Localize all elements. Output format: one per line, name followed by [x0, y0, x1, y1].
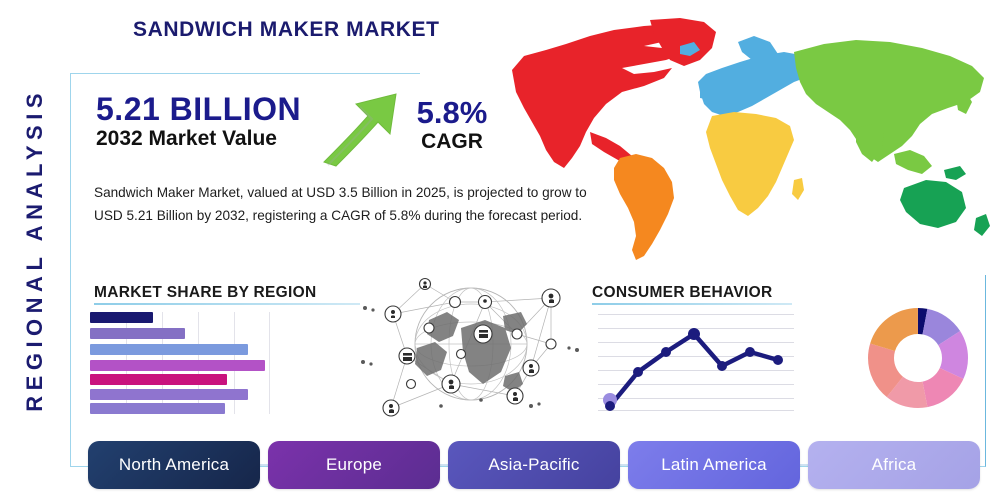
region-button-north-america[interactable]: North America	[88, 441, 260, 489]
map-region-australia	[900, 180, 966, 228]
region-button-label: Africa	[872, 455, 917, 475]
line-marker	[745, 347, 755, 357]
cagr-value: 5.8%	[404, 96, 500, 129]
consumer-behavior-heading: CONSUMER BEHAVIOR	[592, 284, 773, 302]
map-region-png	[944, 166, 966, 180]
line-chart-svg	[598, 310, 794, 416]
region-button-label: Latin America	[661, 455, 767, 475]
consumer-behavior-donut-chart	[868, 308, 968, 408]
side-label-text: REGIONAL ANALYSIS	[22, 88, 48, 412]
line-marker	[605, 401, 615, 411]
globe-network-svg	[355, 272, 587, 428]
map-region-madagascar	[792, 178, 804, 200]
region-button-asia-pacific[interactable]: Asia-Pacific	[448, 441, 620, 489]
region-button-latin-america[interactable]: Latin America	[628, 441, 800, 489]
page-title: SANDWICH MAKER MARKET	[133, 18, 440, 42]
donut-svg	[868, 308, 968, 408]
bar-item-6	[90, 389, 248, 400]
region-button-europe[interactable]: Europe	[268, 441, 440, 489]
cagr-block: 5.8% CAGR	[404, 96, 500, 154]
line-marker	[633, 367, 643, 377]
infographic-canvas: REGIONAL ANALYSIS SANDWICH MAKER MARKET	[0, 0, 1000, 500]
consumer-behavior-heading-rule	[592, 303, 792, 305]
summary-paragraph: Sandwich Maker Market, valued at USD 3.5…	[94, 182, 599, 227]
region-button-label: Asia-Pacific	[488, 455, 579, 475]
market-share-bar-chart	[90, 312, 270, 414]
bar-item-7	[90, 403, 225, 414]
map-region-sea	[894, 150, 932, 174]
market-share-heading-rule	[94, 303, 360, 305]
cagr-label: CAGR	[404, 129, 500, 154]
line-marker	[773, 355, 783, 365]
bar-item-4	[90, 360, 265, 371]
map-region-new-zealand	[974, 214, 990, 236]
bar-gridline	[269, 312, 270, 414]
line-marker	[717, 361, 727, 371]
line-marker	[661, 347, 671, 357]
global-network-illustration	[355, 272, 587, 428]
growth-arrow-icon	[316, 82, 408, 168]
line-marker	[688, 328, 700, 340]
region-button-label: Europe	[326, 455, 382, 475]
map-region-south-america	[614, 154, 674, 260]
region-button-africa[interactable]: Africa	[808, 441, 980, 489]
region-button-label: North America	[119, 455, 229, 475]
map-region-africa	[706, 112, 794, 216]
bar-item-2	[90, 328, 185, 339]
bar-item-1	[90, 312, 153, 323]
consumer-behavior-line-chart	[598, 310, 794, 416]
bar-item-3	[90, 344, 248, 355]
region-button-bar: North America Europe Asia-Pacific Latin …	[80, 441, 980, 489]
side-label: REGIONAL ANALYSIS	[6, 0, 64, 500]
bar-item-5	[90, 374, 227, 385]
map-region-asia	[794, 40, 984, 162]
growth-arrow-svg	[316, 82, 408, 168]
market-share-heading: MARKET SHARE BY REGION	[94, 284, 316, 302]
